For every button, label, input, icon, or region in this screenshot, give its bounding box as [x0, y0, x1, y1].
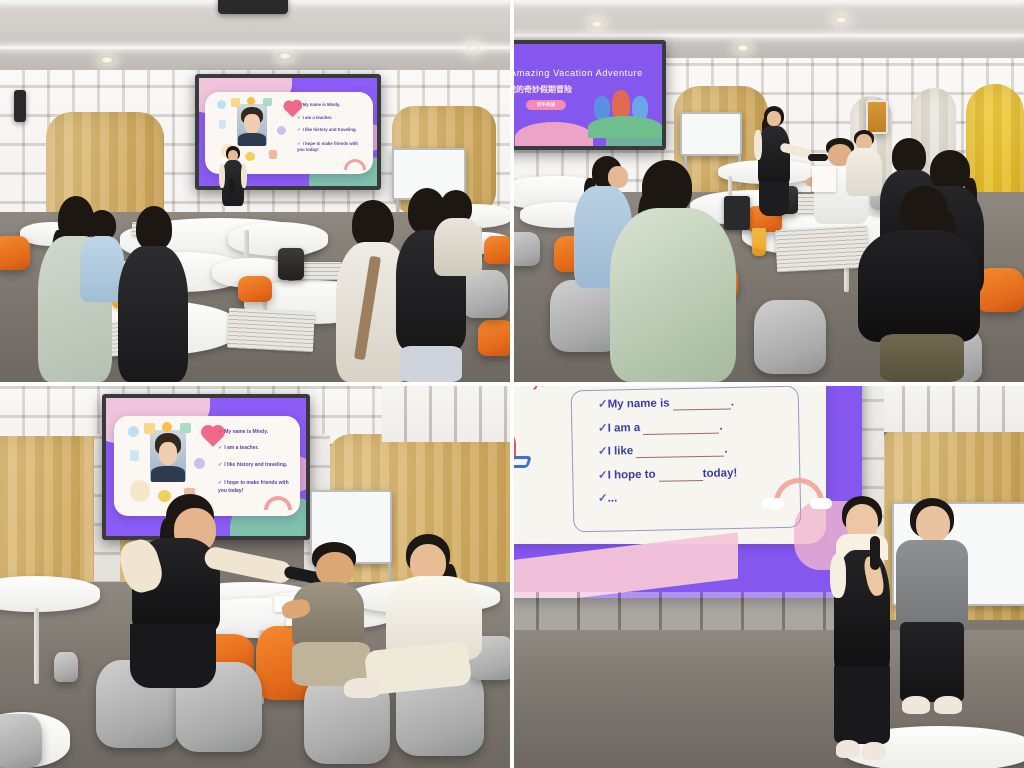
blank-line — [673, 408, 731, 410]
slide-line: ✓I like history and traveling. — [218, 463, 292, 468]
microphone — [229, 178, 234, 194]
juice-cup — [752, 228, 766, 256]
torso — [896, 540, 968, 632]
check-icon: ✓ — [598, 469, 608, 481]
sticker-icon — [263, 98, 272, 106]
sticker-icon — [269, 150, 277, 159]
person-teacher — [108, 494, 288, 672]
sticker-icon — [130, 450, 139, 461]
shoe — [902, 696, 930, 714]
person-adult — [386, 534, 490, 714]
downlight-icon — [278, 52, 292, 60]
head — [767, 111, 781, 126]
rainbow-icon — [344, 159, 366, 170]
stool-orange — [238, 276, 272, 302]
shoe — [862, 742, 886, 760]
slide-line: ✓My name is Mindy. — [218, 430, 292, 435]
person-student-boy — [288, 542, 374, 686]
stool-grey — [54, 652, 78, 682]
sticker-icon — [217, 100, 226, 109]
stool-grey — [754, 300, 826, 374]
slide-line: ✓I like history and traveling. — [297, 128, 359, 133]
downlight-icon — [834, 16, 848, 24]
photo-top-right: Amazing Vacation Adventure 我的奇妙假期冒险 初中英语 — [514, 0, 1024, 382]
person-student — [896, 498, 970, 734]
newspaper — [227, 308, 315, 352]
wall-panel-texture — [382, 386, 510, 442]
black-bag — [278, 248, 304, 280]
hair — [352, 200, 394, 248]
slide-text-block: ✓My name is Mindy. ✓I am a teacher. ✓I l… — [297, 103, 359, 153]
person-teacher — [752, 106, 796, 216]
wall-panel-texture — [880, 386, 1024, 432]
table-leg — [244, 230, 249, 258]
slide-blob — [515, 122, 593, 146]
paper-sheet — [812, 166, 836, 192]
slide-line: ✓My name is Mindy. — [297, 103, 359, 108]
arm-sleeve — [754, 130, 762, 160]
arm-sleeve — [830, 554, 846, 598]
kids-illustration — [592, 88, 658, 138]
legs — [364, 641, 472, 696]
sticker-icon — [128, 426, 139, 437]
slide-line: ✓I hope to make friends with you today! — [297, 141, 359, 154]
downlight-icon — [590, 20, 604, 28]
person-student — [118, 206, 188, 382]
photo-collage: ✓My name is Mindy. ✓I am a teacher. ✓I l… — [0, 0, 1024, 768]
stool-orange — [478, 320, 510, 356]
downlight-icon — [736, 44, 750, 52]
shoe — [934, 696, 962, 714]
person-teacher — [218, 146, 248, 220]
arm — [241, 164, 247, 188]
slide-text-block: ✓My name is Mindy. ✓I am a teacher. ✓I l… — [218, 430, 292, 495]
stool-orange — [0, 236, 30, 270]
sticker-icon — [144, 423, 155, 434]
wall-speaker — [14, 90, 26, 122]
sticker-icon — [194, 458, 205, 469]
padded-wall-side — [382, 386, 510, 442]
stool-grey — [514, 232, 540, 266]
projection-screen: Amazing Vacation Adventure 我的奇妙假期冒险 初中英语 — [514, 40, 666, 150]
shoe — [836, 740, 860, 758]
ceiling-speaker — [218, 0, 288, 14]
skirt — [834, 666, 890, 744]
check-icon: ✓ — [598, 422, 608, 434]
table-leg — [34, 608, 39, 684]
slide-introduce-yourself: you introduce yourself to everyone? ✓My … — [514, 386, 862, 598]
blank-line — [644, 432, 720, 434]
skirt — [759, 182, 789, 216]
cloud-icon — [810, 498, 832, 509]
teacher-photo — [237, 104, 267, 146]
photo-bottom-left: ✓My name is Mindy. ✓I am a teacher. ✓I l… — [0, 386, 510, 768]
slide-subtitle: 我的奇妙假期冒险 — [514, 84, 572, 95]
prompt-row: ✓I hope to today! — [598, 467, 804, 482]
check-icon: ✓ — [598, 446, 608, 458]
torso — [858, 230, 980, 342]
slide-prompt-list: ✓My name is . ✓I am a . ✓I like . ✓I hop… — [598, 398, 804, 504]
arm — [219, 164, 225, 188]
person-student — [432, 190, 484, 276]
microphone — [870, 536, 880, 570]
slide-line: ✓I hope to make friends with you today! — [218, 479, 292, 495]
framed-wall-art — [866, 100, 888, 134]
stool-orange — [484, 236, 510, 264]
shoe — [344, 678, 380, 698]
photo-top-left: ✓My name is Mindy. ✓I am a teacher. ✓I l… — [0, 0, 510, 382]
slide-line: ✓I am a teacher. — [297, 116, 359, 121]
sticker-icon — [219, 120, 226, 129]
prompt-row: ✓My name is . — [598, 396, 804, 411]
slide-line: ✓I am a teacher. — [218, 446, 292, 451]
slide-vacation-adventure: Amazing Vacation Adventure 我的奇妙假期冒险 初中英语 — [514, 44, 662, 146]
blank-line — [659, 479, 703, 481]
cloud-icon — [762, 498, 784, 509]
torso — [118, 246, 188, 382]
torso — [610, 208, 736, 382]
head — [916, 506, 950, 542]
padded-wall — [880, 386, 1024, 432]
sticker-icon — [180, 423, 191, 433]
torso — [758, 126, 790, 186]
legs — [400, 346, 462, 382]
skirt — [130, 624, 216, 688]
person-student — [858, 186, 982, 382]
person-student — [610, 160, 738, 382]
teacher-photo — [150, 430, 186, 482]
downlight-icon — [466, 44, 480, 52]
shorts — [900, 622, 964, 702]
sticker-icon — [247, 97, 255, 105]
projection-screen: you introduce yourself to everyone? ✓My … — [514, 386, 862, 598]
hill — [588, 116, 662, 138]
slide-title: Amazing Vacation Adventure — [514, 68, 643, 78]
sticker-icon — [231, 98, 240, 107]
avatar-3d-decoration — [514, 386, 530, 466]
sticker-icon — [162, 422, 172, 432]
blank-line — [637, 455, 725, 458]
prompt-row: ✓I like . — [598, 443, 804, 458]
torso — [434, 218, 482, 276]
photo-bottom-right: you introduce yourself to everyone? ✓My … — [514, 386, 1024, 768]
whiteboard — [680, 112, 742, 156]
stool-grey — [0, 714, 42, 768]
person-teacher — [830, 496, 894, 768]
slide-badge: 初中英语 — [526, 100, 566, 110]
downlight-icon — [100, 56, 114, 64]
stool-grey — [462, 270, 508, 318]
head — [316, 552, 354, 586]
prompt-row: ✓I am a . — [598, 420, 804, 435]
newspaper — [775, 226, 869, 273]
shorts — [880, 334, 964, 382]
check-icon: ✓ — [598, 493, 608, 505]
sticker-icon — [277, 126, 286, 135]
check-icon: ✓ — [598, 399, 608, 411]
